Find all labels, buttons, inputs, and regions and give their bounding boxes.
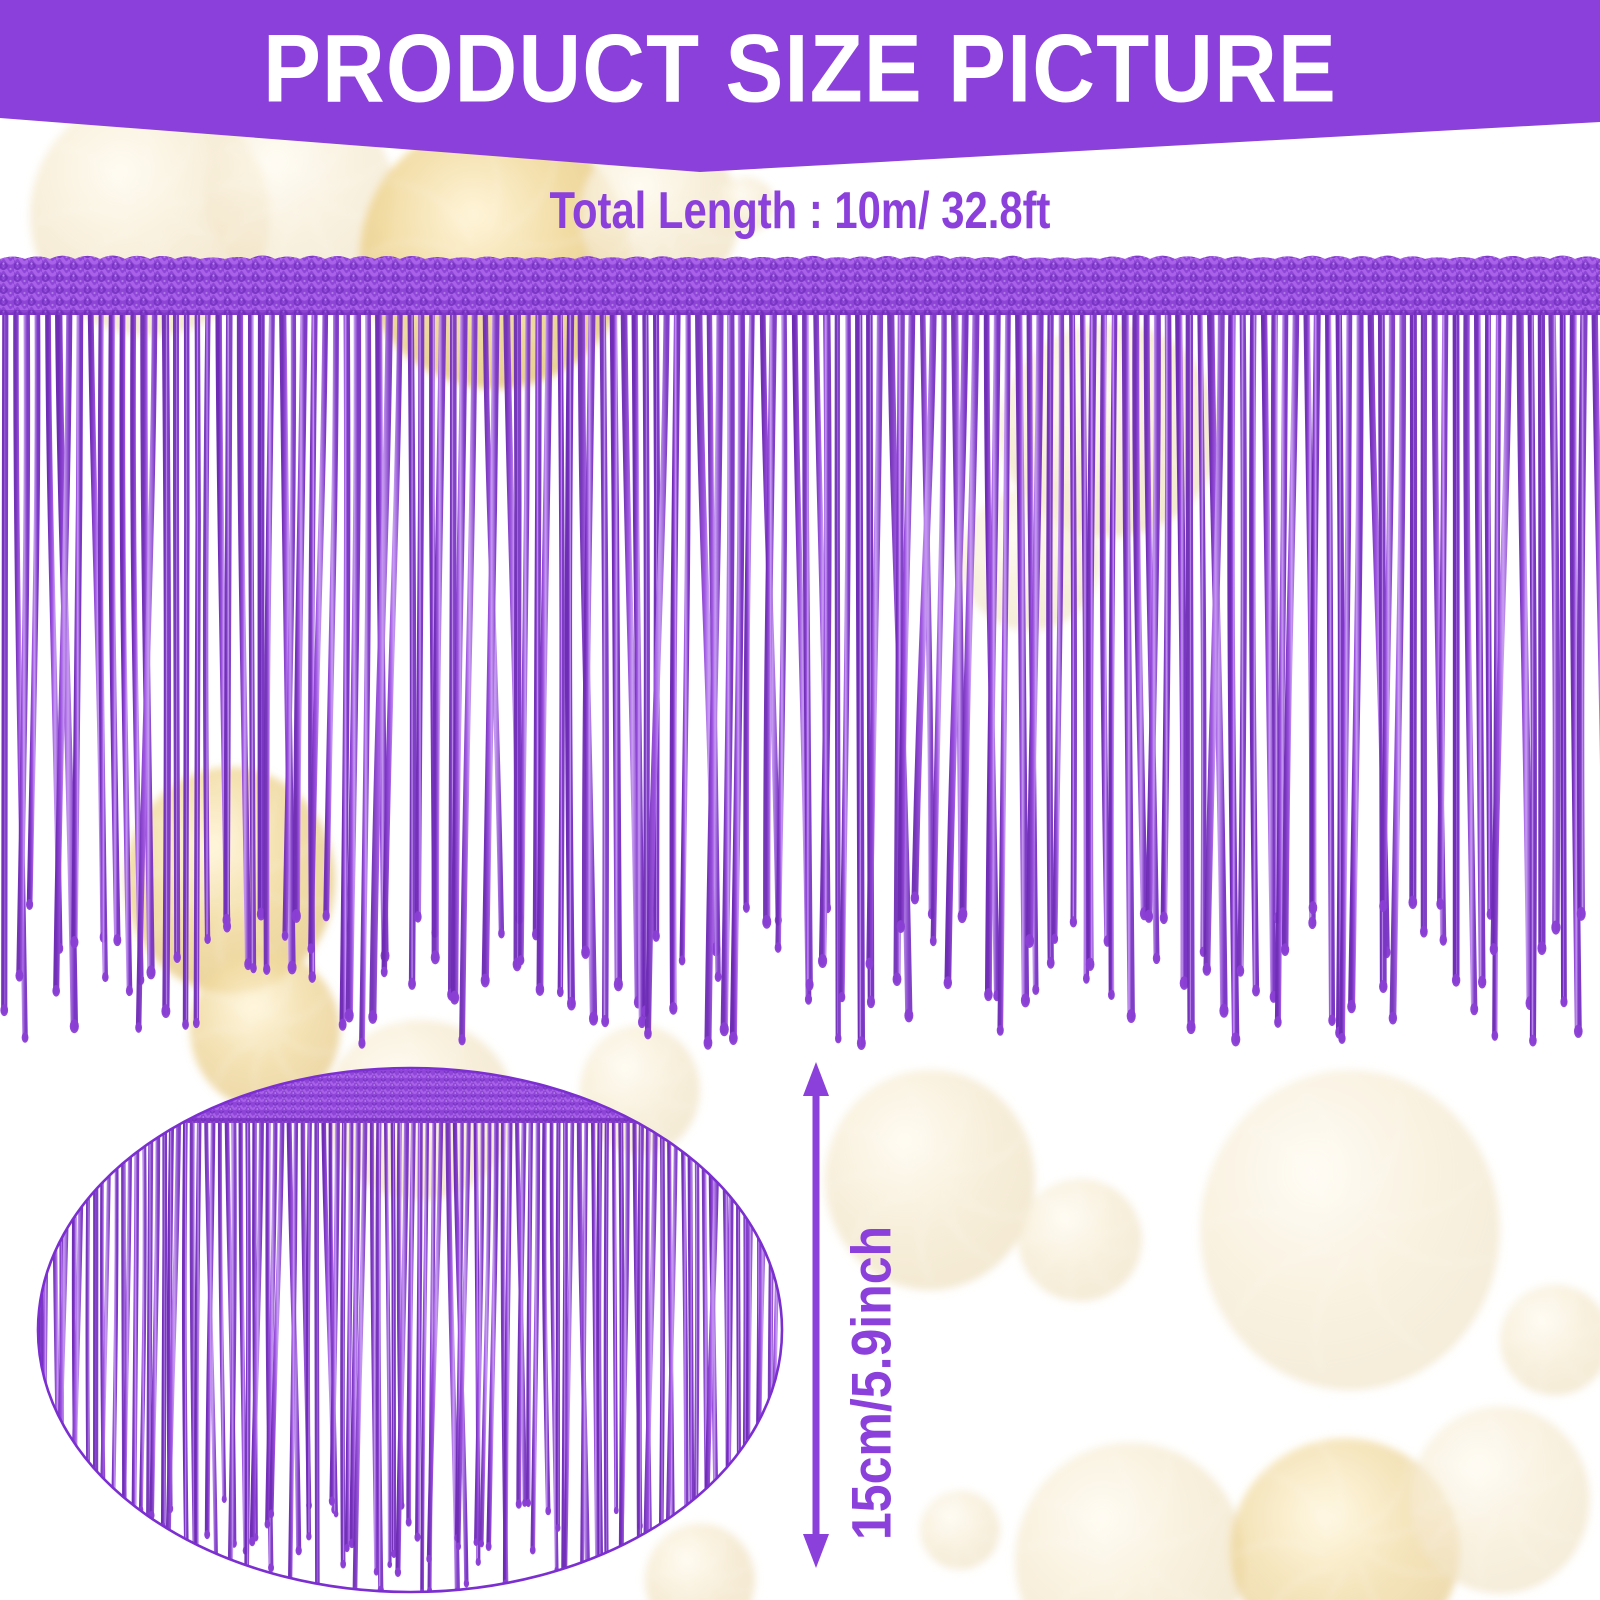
fringe-trim-main-view	[0, 230, 1600, 1060]
height-dimension-label: 15cm/5.9inch	[838, 1110, 905, 1540]
fringe-closeup-inset	[30, 1055, 790, 1600]
total-length-caption: Total Length : 10m/ 32.8ft	[40, 182, 1560, 241]
page-title: PRODUCT SIZE PICTURE	[0, 14, 1600, 125]
product-size-picture: PRODUCT SIZE PICTURE Total Length : 10m/…	[0, 0, 1600, 1600]
